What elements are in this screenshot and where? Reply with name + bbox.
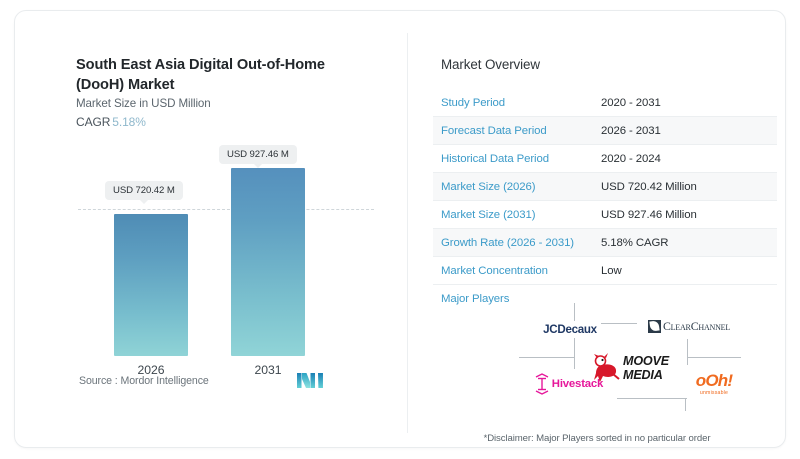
moove-media-logo-text: MOOVE MEDIA — [623, 354, 669, 382]
jcdecaux-logo: JCDecaux — [527, 315, 613, 343]
ooh-logo-tagline: unmissable — [700, 390, 728, 396]
row-label-growth-rate: Growth Rate (2026 - 2031) — [433, 229, 593, 257]
ooh-logo-text: oOh! — [696, 372, 732, 389]
row-value-historical-data-period: 2020 - 2024 — [593, 145, 777, 173]
row-label-market-concentration: Market Concentration — [433, 257, 593, 285]
table-row: Study Period 2020 - 2031 — [433, 89, 777, 117]
row-value-forecast-data-period: 2026 - 2031 — [593, 117, 777, 145]
infographic-page: South East Asia Digital Out-of-Home (Doo… — [0, 0, 800, 459]
bar-label-2026: USD 720.42 M — [105, 181, 183, 200]
bar-2031 — [231, 168, 305, 356]
clearchannel-mark-icon — [648, 320, 661, 333]
row-label-historical-data-period: Historical Data Period — [433, 145, 593, 173]
chart-panel: South East Asia Digital Out-of-Home (Doo… — [15, 11, 407, 447]
cagr-value: 5.18% — [112, 115, 146, 129]
hivestack-mark-icon — [535, 373, 549, 395]
page-title: South East Asia Digital Out-of-Home (Doo… — [76, 55, 376, 95]
bar-chart-plot-area: USD 720.42 M USD 927.46 M 2026 2031 — [76, 151, 376, 356]
row-value-growth-rate: 5.18% CAGR — [593, 229, 777, 257]
source-text: Source : Mordor Intelligence — [79, 375, 209, 387]
cagr-label: CAGR — [76, 115, 110, 129]
chart-subtitle: Market Size in USD Million — [76, 97, 211, 110]
table-row: Forecast Data Period 2026 - 2031 — [433, 117, 777, 145]
row-label-forecast-data-period: Forecast Data Period — [433, 117, 593, 145]
ooh-media-logo: oOh! unmissable — [687, 365, 741, 403]
row-value-study-period: 2020 - 2031 — [593, 89, 777, 117]
market-overview-table: Study Period 2020 - 2031 Forecast Data P… — [433, 89, 777, 312]
cagr-line: CAGR5.18% — [76, 115, 146, 129]
table-row: Market Size (2031) USD 927.46 Million — [433, 201, 777, 229]
table-row: Market Concentration Low — [433, 257, 777, 285]
moove-media-logo: MOOVE MEDIA — [577, 343, 683, 393]
moove-line-1: MOOVE — [623, 354, 669, 368]
row-value-market-concentration: Low — [593, 257, 777, 285]
source-row: Source : Mordor Intelligence — [79, 374, 323, 392]
row-value-market-size-2031: USD 927.46 Million — [593, 201, 777, 229]
market-overview-heading: Market Overview — [441, 57, 540, 72]
moove-line-2: MEDIA — [623, 368, 669, 382]
row-label-market-size-2031: Market Size (2031) — [433, 201, 593, 229]
table-row: Market Size (2026) USD 720.42 Million — [433, 173, 777, 201]
market-summary-card: South East Asia Digital Out-of-Home (Doo… — [14, 10, 786, 448]
moove-cow-icon — [591, 352, 621, 384]
moove-media-logo-inner: MOOVE MEDIA — [591, 352, 669, 384]
table-row: Historical Data Period 2020 - 2024 — [433, 145, 777, 173]
reference-dashed-line — [78, 209, 374, 210]
mordor-intelligence-logo — [297, 372, 323, 389]
row-label-market-size-2026: Market Size (2026) — [433, 173, 593, 201]
jcdecaux-logo-text: JCDecaux — [539, 321, 601, 338]
bar-2026 — [114, 214, 188, 356]
table-row: Growth Rate (2026 - 2031) 5.18% CAGR — [433, 229, 777, 257]
disclaimer-text: *Disclaimer: Major Players sorted in no … — [407, 433, 786, 444]
row-label-study-period: Study Period — [433, 89, 593, 117]
major-players-logo-grid: JCDecaux ClearChannel Hivestack — [519, 303, 741, 411]
row-value-market-size-2026: USD 720.42 Million — [593, 173, 777, 201]
clearchannel-logo-text: ClearChannel — [663, 319, 730, 334]
clearchannel-logo: ClearChannel — [637, 313, 741, 339]
bar-label-2031: USD 927.46 M — [219, 145, 297, 164]
